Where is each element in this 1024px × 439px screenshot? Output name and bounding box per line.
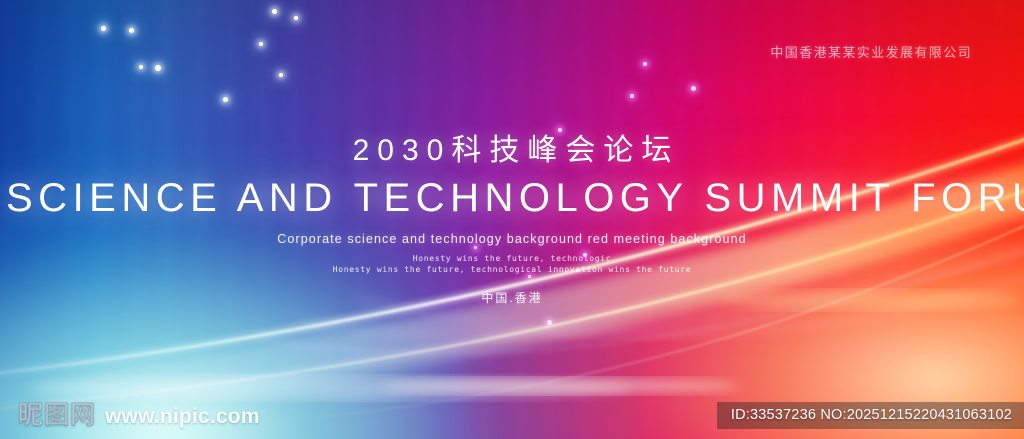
title-english: SCIENCE AND TECHNOLOGY SUMMIT FORUM [0, 176, 1024, 221]
particle-white-3 [139, 65, 143, 69]
particle-white-0 [101, 26, 106, 31]
particle-pink-5 [547, 320, 552, 325]
particle-pink-4 [583, 253, 587, 257]
title-chinese: 2030科技峰会论坛 [0, 132, 1024, 170]
location-text: 中国.香港 [0, 289, 1024, 306]
particle-white-6 [259, 42, 263, 46]
gold-glow-bottom-right [464, 129, 1024, 439]
watermark: 昵图网 www.nipic.com [18, 395, 260, 431]
micro-text-line-2: Honesty wins the future, technological i… [0, 264, 1024, 276]
particle-white-5 [272, 9, 277, 14]
particle-white-4 [223, 97, 228, 102]
light-ribbons [0, 0, 1024, 439]
teal-glow-bottom-left [0, 149, 640, 439]
particle-pink-3 [558, 128, 562, 132]
watermark-brand-cn: 昵图网 [18, 395, 96, 431]
particle-pink-1 [643, 62, 647, 66]
subtitle-text: Corporate science and technology backgro… [0, 232, 1024, 246]
micro-text-line-1: Honesty wins the future, technologic [0, 253, 1024, 265]
headline-block: 2030科技峰会论坛 SCIENCE AND TECHNOLOGY SUMMIT… [0, 132, 1024, 306]
particle-white-8 [294, 16, 298, 20]
particle-pink-0 [630, 94, 634, 98]
particle-pink-7 [474, 246, 477, 249]
teal-glow-core [0, 229, 500, 439]
particle-white-2 [155, 65, 161, 71]
top-shade-overlay [0, 0, 1024, 439]
particle-white-7 [279, 73, 283, 77]
poster-canvas: 中国香港某某实业发展有限公司 2030科技峰会论坛 SCIENCE AND TE… [0, 0, 1024, 439]
particle-pink-6 [528, 275, 531, 278]
company-name: 中国香港某某实业发展有限公司 [770, 42, 972, 61]
id-bar: ID:33537236 NO:20251215220431063102 [717, 402, 1024, 429]
watermark-url: www.nipic.com [105, 405, 260, 429]
particle-white-1 [129, 28, 134, 33]
particle-pink-2 [691, 86, 696, 91]
vertical-sheen-overlay [0, 0, 1024, 439]
